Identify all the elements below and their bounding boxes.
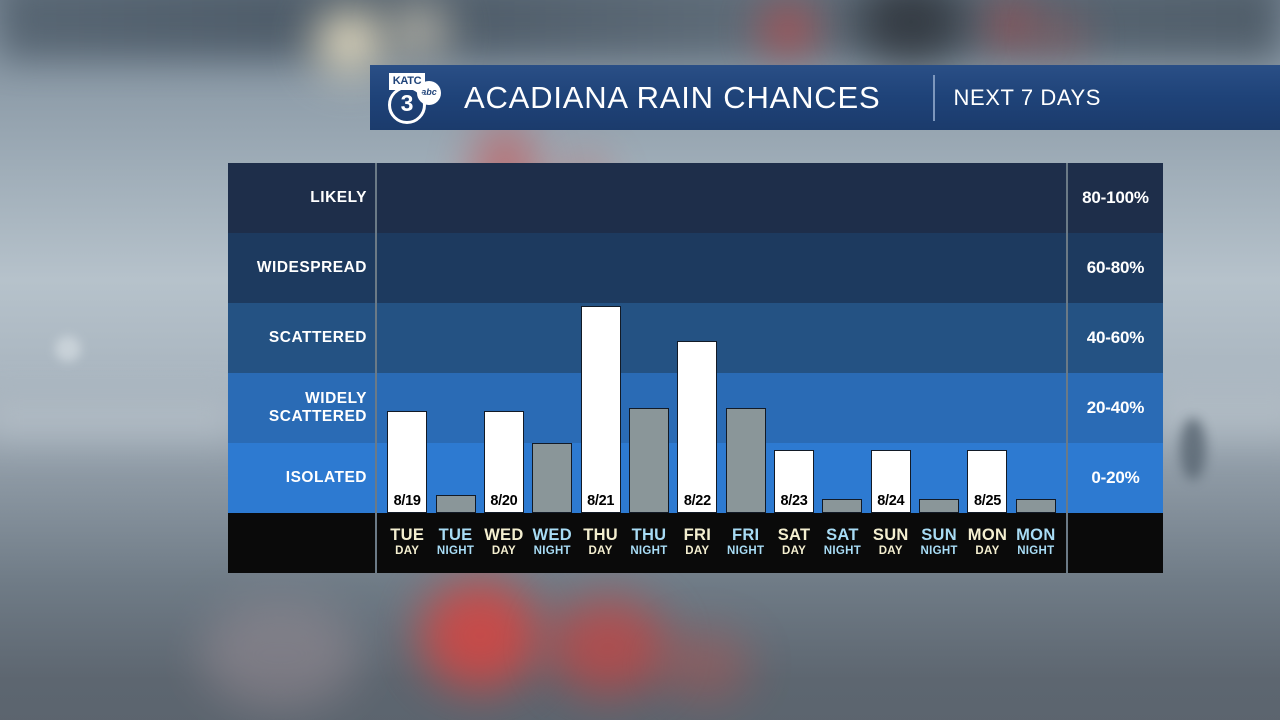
plot-area: 8/198/208/218/228/238/248/25 TUEDAYTUENI… [375,163,1068,573]
axis-day-part: DAY [685,544,709,560]
channel-number-text: 3 [401,92,414,115]
axis-day-part: NIGHT [920,544,957,560]
bar-slot: 8/19 [383,163,431,513]
bar-slot [1012,163,1060,513]
bar-thu-day[interactable]: 8/21 [581,306,621,513]
background-droplet-splash [55,336,81,362]
category-label-likely: LIKELY [228,163,375,233]
axis-day-of-week: MON [1016,526,1055,544]
axis-day-part: NIGHT [630,544,667,560]
background-bokeh-red-1 [762,6,814,54]
percent-range-80-100: 80-100% [1068,163,1163,233]
axis-day-of-week: FRI [684,526,711,544]
background-bokeh-red-2 [988,2,1034,48]
background-bokeh-white-2 [392,4,448,58]
bar-slot [431,163,479,513]
bar-slot [818,163,866,513]
background-bokeh-red-3 [1042,16,1082,56]
category-column-axis-filler [228,513,375,573]
percent-column-axis-filler [1068,513,1163,573]
bar-tue-night[interactable] [436,495,476,513]
axis-label-mon-day: MONDAY [963,513,1011,573]
axis-day-of-week: THU [632,526,667,544]
bar-slot: 8/23 [770,163,818,513]
bar-date-label: 8/22 [684,494,711,513]
katc-3-abc-logo-icon: KATC abc 3 [386,71,448,125]
axis-label-wed-day: WEDDAY [480,513,528,573]
percent-range-20-40: 20-40% [1068,373,1163,443]
background-bokeh-red-8 [660,630,750,700]
background-bokeh-pink-1 [200,600,360,710]
axis-label-sun-night: SUNNIGHT [915,513,963,573]
bar-date-label: 8/21 [587,494,614,513]
axis-label-fri-day: FRIDAY [673,513,721,573]
background-bokeh-red-6 [420,580,540,690]
axis-day-of-week: THU [583,526,618,544]
category-label-isolated: ISOLATED [228,443,375,513]
background-ripple-left [0,400,240,440]
bar-date-label: 8/24 [877,494,904,513]
axis-day-part: DAY [782,544,806,560]
time-axis: TUEDAYTUENIGHTWEDDAYWEDNIGHTTHUDAYTHUNIG… [377,513,1066,573]
bar-wed-day[interactable]: 8/20 [484,411,524,513]
bar-mon-day[interactable]: 8/25 [967,450,1007,513]
axis-label-thu-day: THUDAY [576,513,624,573]
axis-day-part: DAY [589,544,613,560]
category-label-scattered: SCATTERED [228,303,375,373]
bar-slot [528,163,576,513]
bar-slot [915,163,963,513]
bar-slot: 8/24 [867,163,915,513]
bar-slot [625,163,673,513]
background-bokeh-red-7 [548,598,668,694]
graphic-title: ACADIANA RAIN CHANCES [464,80,880,116]
axis-day-part: NIGHT [534,544,571,560]
bar-date-label: 8/19 [394,494,421,513]
bar-date-label: 8/25 [974,494,1001,513]
percent-range-40-60: 40-60% [1068,303,1163,373]
bar-date-label: 8/23 [781,494,808,513]
bar-mon-night[interactable] [1016,499,1056,513]
bar-slot: 8/21 [576,163,624,513]
bar-wed-night[interactable] [532,443,572,513]
bar-sun-day[interactable]: 8/24 [871,450,911,513]
bar-slot: 8/22 [673,163,721,513]
bar-fri-night[interactable] [726,408,766,513]
bar-sat-night[interactable] [822,499,862,513]
category-label-widespread: WIDESPREAD [228,233,375,303]
graphic-subtitle: NEXT 7 DAYS [953,85,1101,111]
axis-day-of-week: SUN [873,526,909,544]
axis-day-part: NIGHT [824,544,861,560]
axis-label-sat-day: SATDAY [770,513,818,573]
header-divider [933,75,935,121]
percent-range-0-20: 0-20% [1068,443,1163,513]
axis-day-of-week: MON [968,526,1007,544]
axis-label-tue-day: TUEDAY [383,513,431,573]
axis-day-part: DAY [879,544,903,560]
axis-label-sun-day: SUNDAY [867,513,915,573]
axis-day-of-week: WED [484,526,523,544]
axis-day-of-week: TUE [390,526,424,544]
axis-label-thu-night: THUNIGHT [625,513,673,573]
background-droplet [1180,418,1206,480]
axis-day-of-week: FRI [732,526,759,544]
graphic-header: KATC abc 3 ACADIANA RAIN CHANCES NEXT 7 … [370,65,1280,130]
axis-day-of-week: SAT [778,526,811,544]
rain-chance-chart: LIKELY WIDESPREAD SCATTERED WIDELY SCATT… [228,163,1165,573]
bar-fri-day[interactable]: 8/22 [677,341,717,513]
bar-date-label: 8/20 [490,494,517,513]
bar-sun-night[interactable] [919,499,959,513]
axis-day-part: DAY [492,544,516,560]
bar-slot: 8/25 [963,163,1011,513]
category-label-widely-scattered: WIDELY SCATTERED [228,373,375,443]
percent-range-column: 80-100% 60-80% 40-60% 20-40% 0-20% [1068,163,1163,573]
axis-label-mon-night: MONNIGHT [1012,513,1060,573]
axis-day-part: DAY [395,544,419,560]
axis-day-part: NIGHT [437,544,474,560]
axis-day-part: NIGHT [1017,544,1054,560]
axis-label-tue-night: TUENIGHT [431,513,479,573]
axis-day-part: NIGHT [727,544,764,560]
bar-tue-day[interactable]: 8/19 [387,411,427,513]
axis-day-part: DAY [975,544,999,560]
bar-thu-night[interactable] [629,408,669,513]
channel-number-circle-icon: 3 [388,86,426,124]
katc-wordmark-text: KATC [393,76,422,87]
category-label-column: LIKELY WIDESPREAD SCATTERED WIDELY SCATT… [228,163,375,573]
axis-day-of-week: SAT [826,526,859,544]
bar-sat-day[interactable]: 8/23 [774,450,814,513]
axis-label-fri-night: FRINIGHT [722,513,770,573]
axis-day-of-week: SUN [921,526,957,544]
background-ripple-right [1150,390,1280,440]
bar-slot [722,163,770,513]
weather-graphic-panel: KATC abc 3 ACADIANA RAIN CHANCES NEXT 7 … [228,65,1165,573]
background-streak-dark-top [0,0,1280,60]
axis-label-sat-night: SATNIGHT [818,513,866,573]
axis-day-of-week: TUE [439,526,473,544]
percent-range-60-80: 60-80% [1068,233,1163,303]
axis-day-of-week: WED [533,526,572,544]
bar-slot: 8/20 [480,163,528,513]
axis-label-wed-night: WEDNIGHT [528,513,576,573]
bar-series: 8/198/208/218/228/238/248/25 [377,163,1066,513]
